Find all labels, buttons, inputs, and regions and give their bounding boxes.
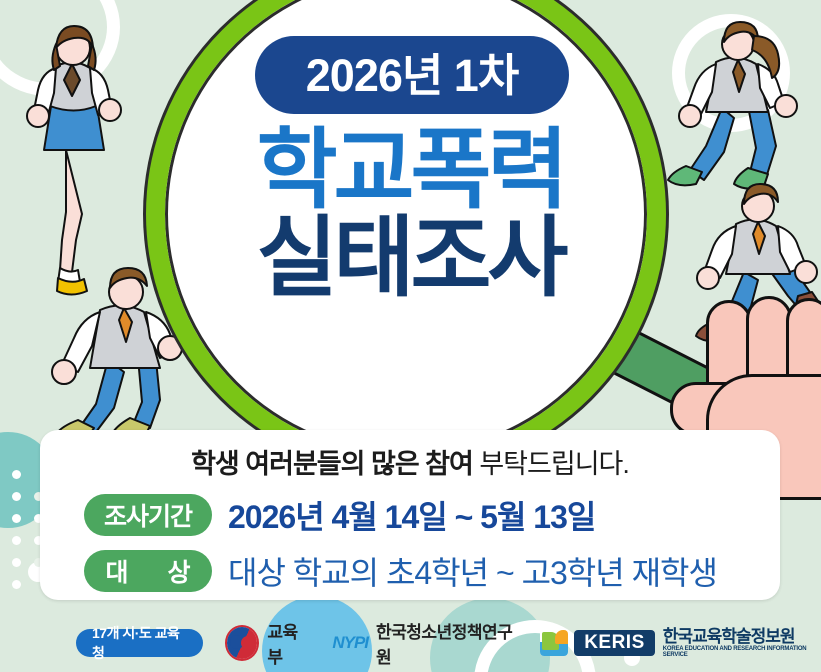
info-lead-text: 학생 여러분들의 많은 참여 부탁드립니다. xyxy=(40,442,780,481)
year-badge-label: 2026년 1차 xyxy=(306,53,518,98)
education-offices-label: 17개 시·도 교육청 xyxy=(92,623,187,663)
title-line-1: 학교폭력 xyxy=(0,128,821,212)
keris-english-name: KOREA EDUCATION AND RESEARCH INFORMATION… xyxy=(663,646,821,659)
nypi-logo-group: NYPI 한국청소년정책연구원 xyxy=(332,618,518,668)
info-row-target: 대 상 대상 학교의 초4학년 ~ 고3학년 재학생 xyxy=(84,548,717,594)
info-lead-bold: 학생 여러분들의 많은 참여 xyxy=(191,449,479,479)
target-label-badge: 대 상 xyxy=(84,550,212,592)
footer-logos: 17개 시·도 교육청 교육부 NYPI 한국청소년정책연구원 KERIS 한국… xyxy=(0,614,821,672)
keris-logo-text: KERIS xyxy=(584,632,645,654)
target-label: 대 상 xyxy=(90,553,207,589)
keris-mark-icon xyxy=(540,630,568,656)
period-value: 2026년 4월 14일 ~ 5월 13일 xyxy=(228,492,595,538)
keris-text-block: 한국교육학술정보원 KOREA EDUCATION AND RESEARCH I… xyxy=(663,628,821,658)
keris-wordmark: KERIS xyxy=(574,630,655,656)
period-label-badge: 조사기간 xyxy=(84,494,212,536)
year-badge: 2026년 1차 xyxy=(255,36,569,114)
moe-logo-group: 교육부 xyxy=(225,618,310,668)
title-line-2: 실태조사 xyxy=(0,216,821,300)
page-title: 학교폭력 실태조사 xyxy=(0,128,821,301)
period-label: 조사기간 xyxy=(104,497,192,533)
taegeuk-icon xyxy=(225,625,259,661)
nypi-label: 한국청소년정책연구원 xyxy=(376,618,518,668)
moe-label: 교육부 xyxy=(267,618,310,668)
keris-logo-group: KERIS 한국교육학술정보원 KOREA EDUCATION AND RESE… xyxy=(540,628,821,658)
education-offices-badge: 17개 시·도 교육청 xyxy=(76,629,203,657)
nypi-logo-icon: NYPI xyxy=(332,633,368,653)
poster-root: 2026년 1차 학교폭력 실태조사 학생 여러분들의 많은 참여 부탁드립니다… xyxy=(0,0,821,672)
info-card: 학생 여러분들의 많은 참여 부탁드립니다. 조사기간 2026년 4월 14일… xyxy=(40,430,780,600)
keris-korean-name: 한국교육학술정보원 xyxy=(663,628,821,646)
target-value: 대상 학교의 초4학년 ~ 고3학년 재학생 xyxy=(228,548,717,594)
info-lead-rest: 부탁드립니다. xyxy=(479,449,629,479)
info-row-period: 조사기간 2026년 4월 14일 ~ 5월 13일 xyxy=(84,492,595,538)
